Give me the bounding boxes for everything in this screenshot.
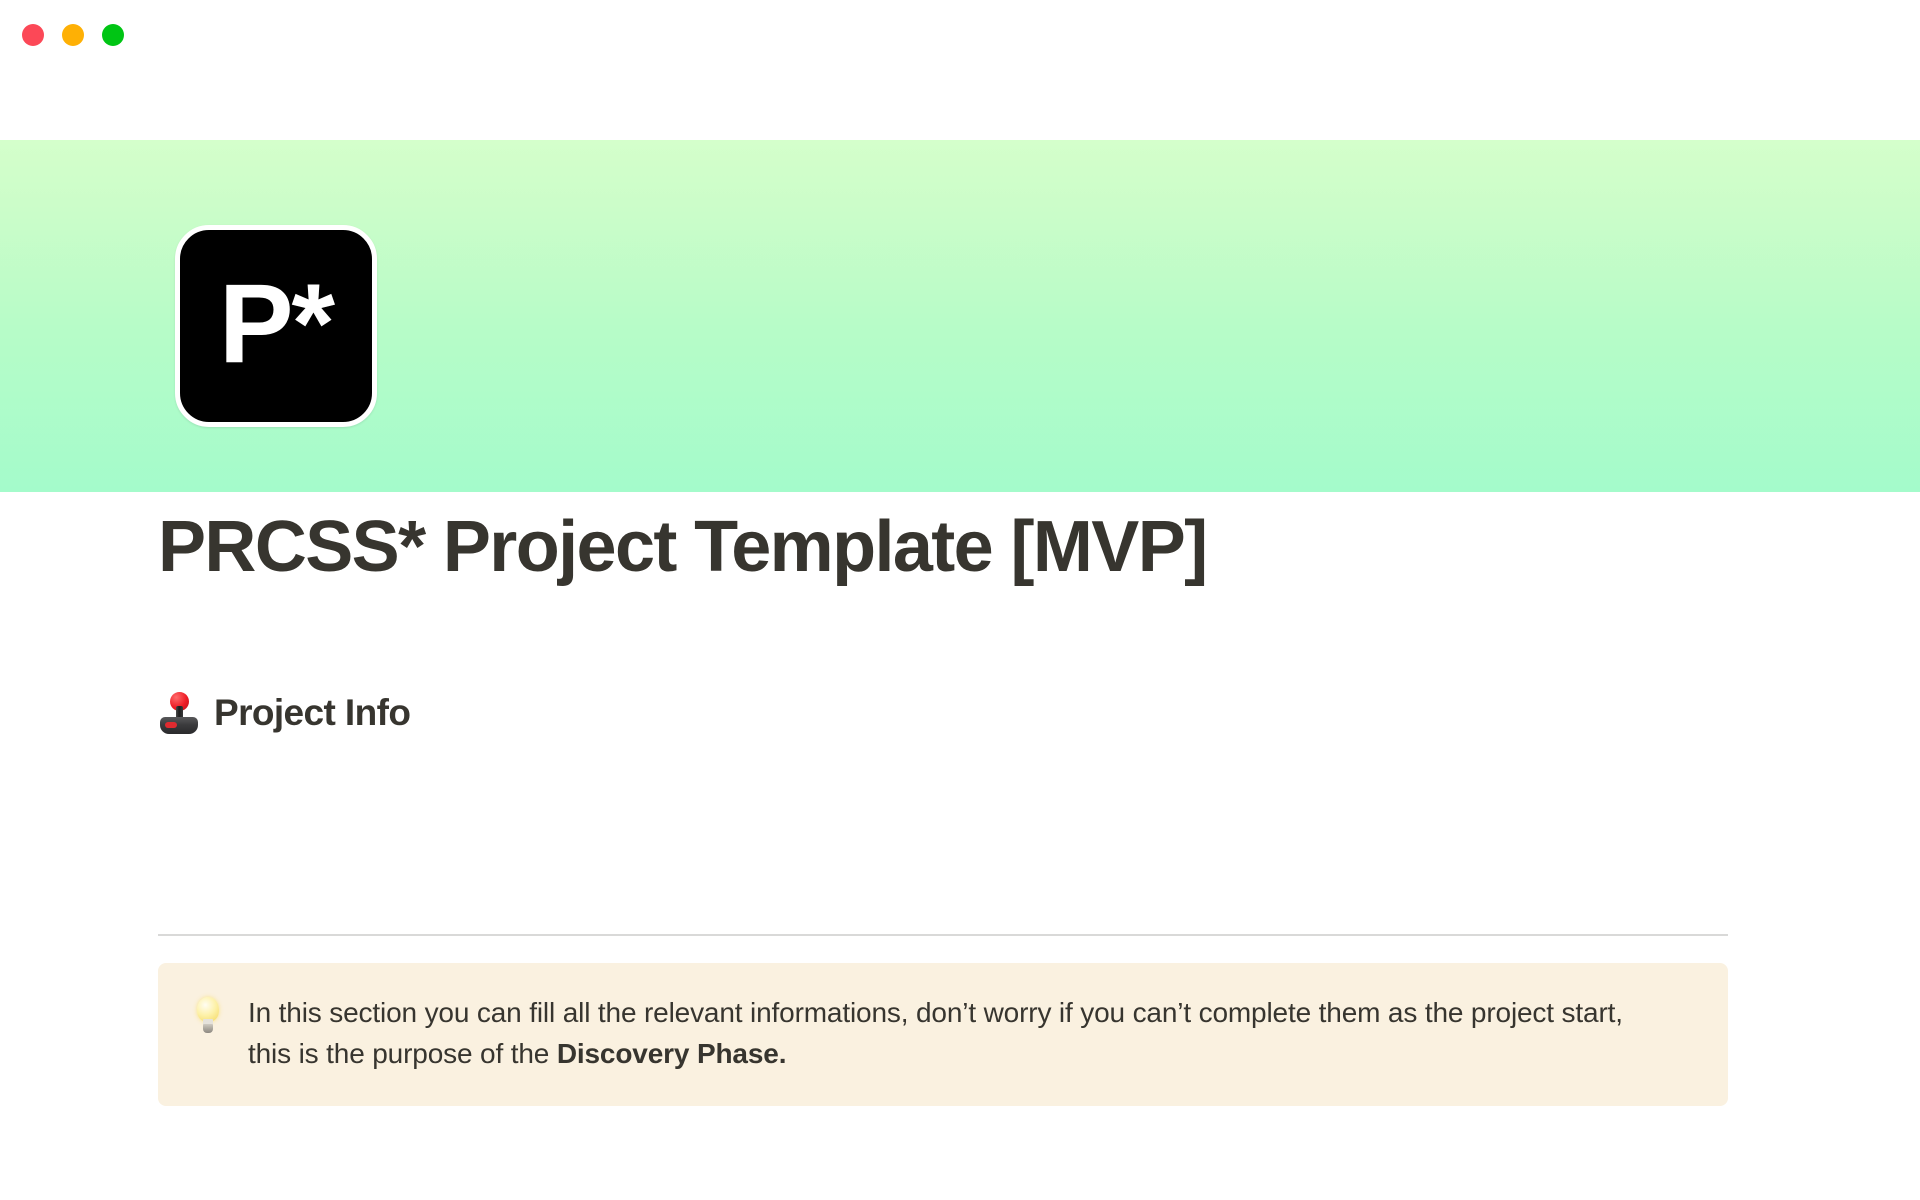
page-icon-glyph: P* bbox=[219, 268, 333, 380]
callout-text-lead: In this section you can fill all the rel… bbox=[248, 997, 1623, 1069]
close-window-icon[interactable] bbox=[22, 24, 44, 46]
joystick-button bbox=[165, 722, 177, 728]
zoom-window-icon[interactable] bbox=[102, 24, 124, 46]
minimize-window-icon[interactable] bbox=[62, 24, 84, 46]
joystick-icon bbox=[158, 690, 200, 736]
info-callout[interactable]: In this section you can fill all the rel… bbox=[158, 963, 1728, 1106]
page-container: P* PRCSS* Project Template [MVP] Project… bbox=[0, 70, 1920, 1200]
page-title[interactable]: PRCSS* Project Template [MVP] bbox=[158, 507, 1758, 588]
section-divider bbox=[158, 934, 1728, 936]
light-bulb-base bbox=[203, 1024, 213, 1033]
callout-text-bold: Discovery Phase. bbox=[557, 1038, 787, 1069]
page-icon-square[interactable]: P* bbox=[175, 225, 377, 427]
section-heading-label: Project Info bbox=[214, 691, 410, 735]
browser-window: P* PRCSS* Project Template [MVP] Project… bbox=[0, 0, 1920, 1200]
light-bulb-icon bbox=[194, 997, 222, 1035]
window-traffic-lights bbox=[22, 24, 124, 46]
window-titlebar bbox=[0, 0, 1920, 70]
info-callout-text: In this section you can fill all the rel… bbox=[248, 993, 1668, 1074]
page-icon[interactable]: P* bbox=[175, 225, 377, 427]
section-heading-project-info[interactable]: Project Info bbox=[158, 690, 410, 736]
